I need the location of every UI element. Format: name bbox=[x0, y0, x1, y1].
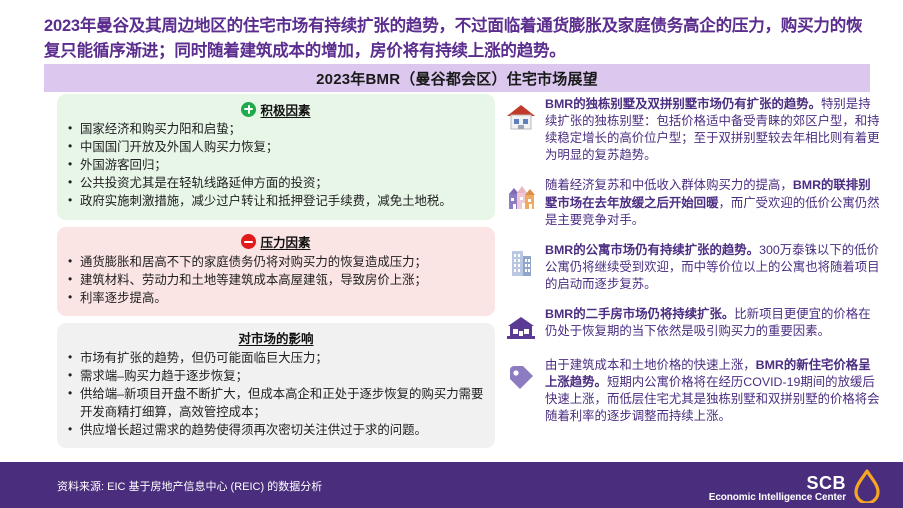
card-impact-header: 对市场的影响 bbox=[67, 329, 485, 347]
house-icon bbox=[504, 100, 538, 134]
section-title-band: 2023年BMR（曼谷都会区）住宅市场展望 bbox=[44, 64, 870, 92]
card-positive-list: 国家经济和购买力阳和启蛰； 中国国门开放及外国人购买力恢复； 外国游客回归； 公… bbox=[67, 121, 485, 211]
slide-root: 2023年曼谷及其周边地区的住宅市场有持续扩张的趋势，不过面临着通货膨胀及家庭债… bbox=[0, 0, 903, 508]
card-market-impact: 对市场的影响 市场有扩张的趋势，但仍可能面临巨大压力； 需求端–购买力趋于逐步恢… bbox=[57, 323, 495, 448]
list-item: 市场有扩张的趋势，但仍可能面临巨大压力； bbox=[67, 350, 485, 368]
list-item: 需求端–购买力趋于逐步恢复； bbox=[67, 368, 485, 386]
card-positive-title: 积极因素 bbox=[260, 100, 310, 119]
insight-pre: 随着经济复苏和中低收入群体购买力的提高， bbox=[545, 178, 793, 192]
insight-lead: BMR的公寓市场仍有持续扩张的趋势。 bbox=[545, 243, 759, 257]
card-pressure-list: 通货膨胀和居高不下的家庭债务仍将对购买力的恢复造成压力； 建筑材料、劳动力和土地… bbox=[67, 254, 485, 308]
insight-pre: 由于建筑成本和土地价格的快速上涨， bbox=[545, 358, 756, 372]
list-item: 供应增长超过需求的趋势使得须再次密切关注供过于求的问题。 bbox=[67, 422, 485, 440]
card-impact-list: 市场有扩张的趋势，但仍可能面临巨大压力； 需求端–购买力趋于逐步恢复； 供给端–… bbox=[67, 350, 485, 440]
resale-home-icon bbox=[504, 310, 538, 344]
insight-lead: BMR的二手房市场仍将持续扩张。 bbox=[545, 307, 734, 321]
insight-lead: BMR的独栋别墅及双拼别墅市场仍有扩张的趋势。 bbox=[545, 97, 821, 111]
insight-text-townhouse: 随着经济复苏和中低收入群体购买力的提高，BMR的联排别墅市场在去年放缓之后开始回… bbox=[545, 177, 882, 228]
page-title: 2023年曼谷及其周边地区的住宅市场有持续扩张的趋势，不过面临着通货膨胀及家庭债… bbox=[44, 14, 866, 64]
card-pressure-header: 压力因素 bbox=[67, 233, 485, 251]
list-item: 供给端–新项目开盘不断扩大，但成本高企和正处于逐步恢复的购买力需要开发商精打细算… bbox=[67, 386, 485, 421]
list-item: 国家经济和购买力阳和启蛰； bbox=[67, 121, 485, 139]
condo-building-icon bbox=[504, 246, 538, 280]
list-item: 建筑材料、劳动力和土地等建筑成本高屋建瓴，导致房价上涨； bbox=[67, 272, 485, 290]
source-note: 资料来源: EIC 基于房地产信息中心 (REIC) 的数据分析 bbox=[57, 478, 322, 494]
left-column: 积极因素 国家经济和购买力阳和启蛰； 中国国门开放及外国人购买力恢复； 外国游客… bbox=[57, 94, 495, 455]
card-impact-title: 对市场的影响 bbox=[238, 328, 313, 347]
logo-scb-name: SCB bbox=[709, 474, 846, 493]
insight-text-price: 由于建筑成本和土地价格的快速上涨，BMR的新住宅价格呈上涨趋势。短期内公寓价格将… bbox=[545, 357, 882, 425]
list-item: 政府实施刺激措施，减少过户转让和抵押登记手续费，减免土地税。 bbox=[67, 193, 485, 211]
price-tag-icon bbox=[504, 361, 538, 395]
card-pressure-title: 压力因素 bbox=[260, 232, 310, 251]
minus-circle-icon bbox=[241, 234, 256, 249]
townhouse-icon bbox=[504, 181, 538, 215]
plus-circle-icon bbox=[241, 102, 256, 117]
list-item: 外国游客回归； bbox=[67, 157, 485, 175]
scb-logo: SCB Economic Intelligence Center bbox=[709, 469, 881, 508]
insight-text-resale-home: BMR的二手房市场仍将持续扩张。比新项目更便宜的价格在仍处于恢复期的当下依然是吸… bbox=[545, 306, 882, 340]
insight-item-price: 由于建筑成本和土地价格的快速上涨，BMR的新住宅价格呈上涨趋势。短期内公寓价格将… bbox=[504, 357, 882, 425]
list-item: 公共投资尤其是在轻轨线路延伸方面的投资； bbox=[67, 175, 485, 193]
scb-flame-icon bbox=[853, 469, 881, 508]
insight-item-townhouse: 随着经济复苏和中低收入群体购买力的提高，BMR的联排别墅市场在去年放缓之后开始回… bbox=[504, 177, 882, 228]
list-item: 通货膨胀和居高不下的家庭债务仍将对购买力的恢复造成压力； bbox=[67, 254, 485, 272]
footer-bar: 资料来源: EIC 基于房地产信息中心 (REIC) 的数据分析 SCB Eco… bbox=[0, 462, 903, 508]
list-item: 中国国门开放及外国人购买力恢复； bbox=[67, 139, 485, 157]
insight-text-condo: BMR的公寓市场仍有持续扩张的趋势。300万泰铢以下的低价公寓仍将继续受到欢迎，… bbox=[545, 242, 882, 293]
insight-item-detached-house: BMR的独栋别墅及双拼别墅市场仍有扩张的趋势。特别是持续扩张的独栋别墅：包括价格… bbox=[504, 96, 882, 164]
card-positive-factors: 积极因素 国家经济和购买力阳和启蛰； 中国国门开放及外国人购买力恢复； 外国游客… bbox=[57, 94, 495, 220]
insight-item-resale-home: BMR的二手房市场仍将持续扩张。比新项目更便宜的价格在仍处于恢复期的当下依然是吸… bbox=[504, 306, 882, 344]
insight-text-detached-house: BMR的独栋别墅及双拼别墅市场仍有扩张的趋势。特别是持续扩张的独栋别墅：包括价格… bbox=[545, 96, 882, 164]
logo-text-block: SCB Economic Intelligence Center bbox=[709, 474, 846, 503]
card-pressure-factors: 压力因素 通货膨胀和居高不下的家庭债务仍将对购买力的恢复造成压力； 建筑材料、劳… bbox=[57, 227, 495, 316]
list-item: 利率逐步提高。 bbox=[67, 290, 485, 308]
insight-item-condo: BMR的公寓市场仍有持续扩张的趋势。300万泰铢以下的低价公寓仍将继续受到欢迎，… bbox=[504, 242, 882, 293]
logo-eic-subtitle: Economic Intelligence Center bbox=[709, 493, 846, 504]
section-title-text: 2023年BMR（曼谷都会区）住宅市场展望 bbox=[316, 68, 598, 89]
right-column: BMR的独栋别墅及双拼别墅市场仍有扩张的趋势。特别是持续扩张的独栋别墅：包括价格… bbox=[504, 96, 882, 439]
card-positive-header: 积极因素 bbox=[67, 100, 485, 118]
